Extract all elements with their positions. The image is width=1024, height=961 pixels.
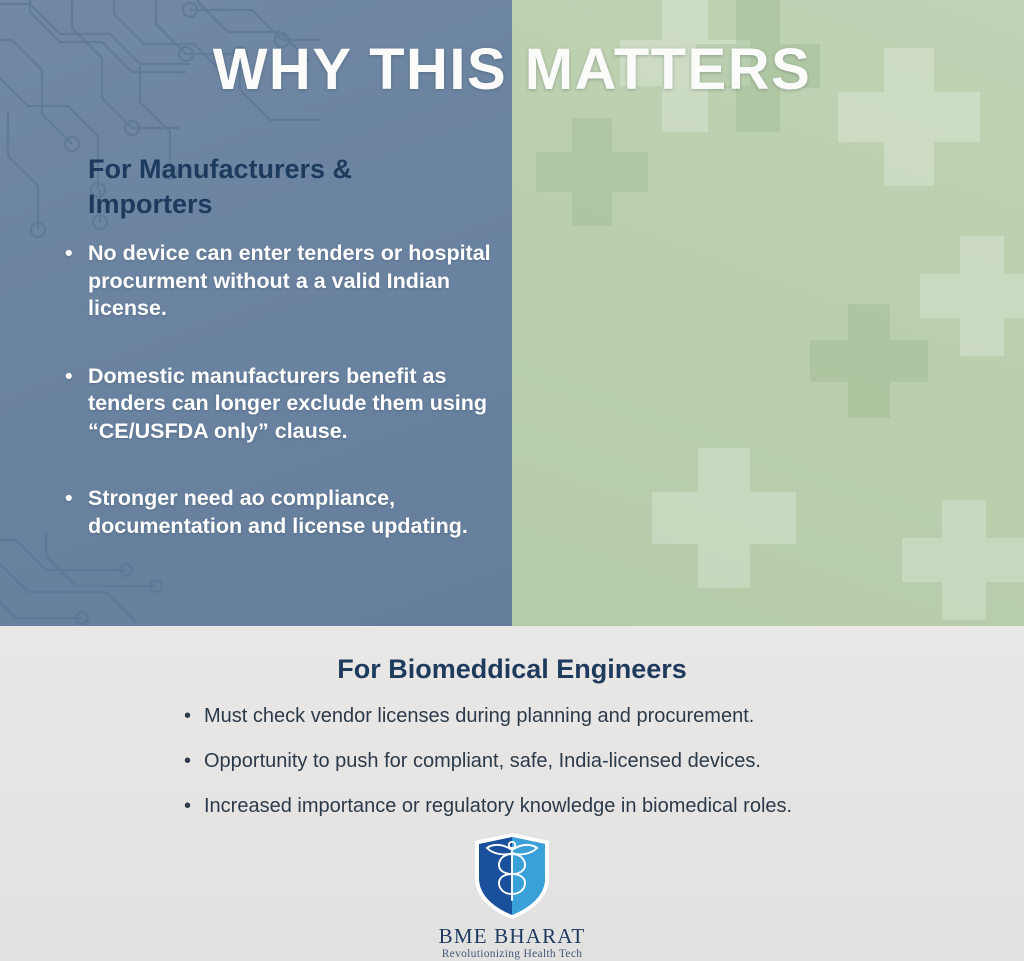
logo-tagline: Revolutionizing Health Tech <box>0 948 1024 960</box>
list-item: Stronger need ao compliance, documentati… <box>62 485 512 540</box>
bottom-section: For Biomeddical Engineers Must check ven… <box>0 626 1024 961</box>
list-item: No device can enter tenders or hospital … <box>62 240 512 323</box>
left-panel-heading: For Manufacturers & Importers <box>88 152 478 221</box>
bottom-section-heading: For Biomeddical Engineers <box>0 654 1024 685</box>
infographic-poster: For Manufacturers & Importers No device … <box>0 0 1024 961</box>
brand-logo: BME BHARAT Revolutionizing Health Tech <box>0 830 1024 960</box>
bottom-bullet-list: Must check vendor licenses during planni… <box>182 704 902 839</box>
circuit-pattern-bottom-icon <box>0 532 266 626</box>
logo-brand-name: BME BHARAT <box>0 924 1024 949</box>
list-item: Domestic manufacturers benefit as tender… <box>62 363 512 446</box>
shield-caduceus-icon <box>469 830 555 922</box>
left-panel-bullet-list: No device can enter tenders or hospital … <box>62 240 512 540</box>
list-item: Increased importance or regulatory knowl… <box>182 794 902 819</box>
list-item: Must check vendor licenses during planni… <box>182 704 902 729</box>
page-title: WHY THIS MATTERS <box>0 36 1024 103</box>
list-item: Opportunity to push for compliant, safe,… <box>182 749 902 774</box>
